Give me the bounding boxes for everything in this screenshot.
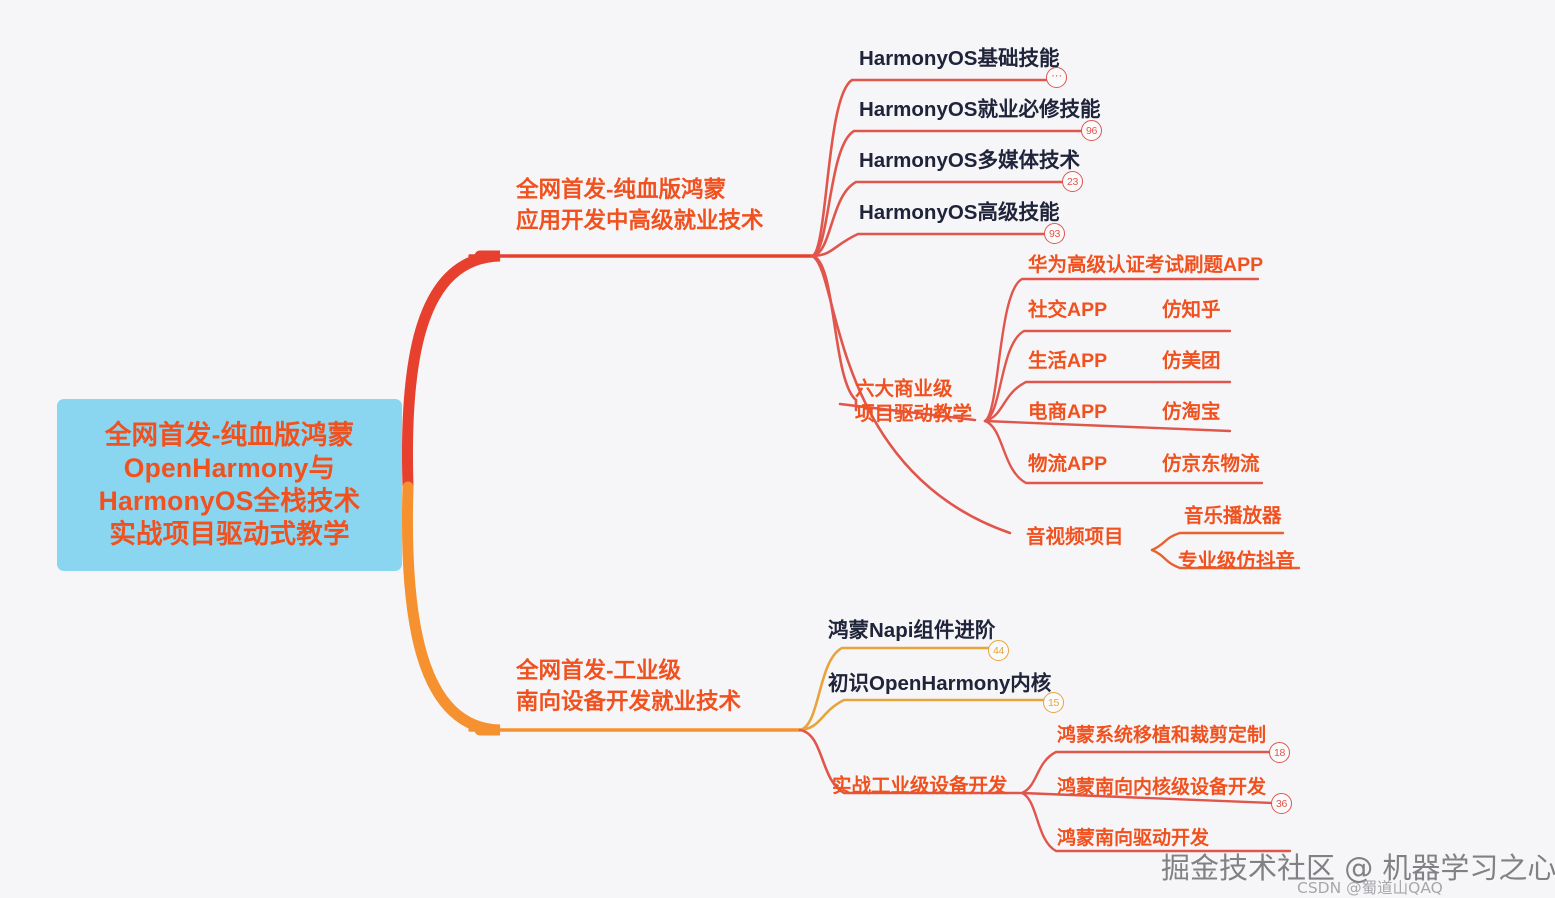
topic-app-ecommerce[interactable]: 电商APP [1028,399,1107,425]
badge-southbound-kernel-device: 36 [1271,793,1292,814]
topic-app-social-clone[interactable]: 仿知乎 [1162,297,1221,323]
topic-harmony-basic[interactable]: HarmonyOS基础技能 [859,46,1059,72]
branch-app-dev-line-1: 全网首发-纯血版鸿蒙 [516,174,764,205]
branch-app-dev-line-2: 应用开发中高级就业技术 [516,205,764,236]
topic-av-douyin-clone[interactable]: 专业级仿抖音 [1178,548,1295,574]
branch-device-dev-line-1: 全网首发-工业级 [516,655,741,686]
root-line-2: OpenHarmony与 [124,452,336,485]
topic-industrial-device-dev[interactable]: 实战工业级设备开发 [832,773,1008,799]
topic-napi-advanced[interactable]: 鸿蒙Napi组件进阶 [828,618,995,644]
topic-harmony-required[interactable]: HarmonyOS就业必修技能 [859,97,1100,123]
branch-label-app-dev[interactable]: 全网首发-纯血版鸿蒙 应用开发中高级就业技术 [516,174,764,236]
trunk-red [407,256,500,487]
topic-app-ecommerce-clone[interactable]: 仿淘宝 [1162,399,1221,425]
topic-app-social[interactable]: 社交APP [1028,297,1107,323]
root-line-3: HarmonyOS全栈技术 [99,485,361,518]
topic-app-huawei-cert[interactable]: 华为高级认证考试刷题APP [1028,252,1263,278]
branch-label-device-dev[interactable]: 全网首发-工业级 南向设备开发就业技术 [516,655,741,717]
wire-kernel [800,700,1050,730]
topic-openharmony-kernel[interactable]: 初识OpenHarmony内核 [828,671,1051,697]
trunk-orange [407,487,500,730]
wire-harmony-advanced [812,234,1047,256]
badge-openharmony-kernel: 15 [1043,692,1064,713]
branch-device-dev-line-2: 南向设备开发就业技术 [516,686,741,717]
topic-system-port-trim[interactable]: 鸿蒙系统移植和裁剪定制 [1057,723,1266,749]
topic-harmony-advanced[interactable]: HarmonyOS高级技能 [859,200,1059,226]
badge-harmony-media: 23 [1062,171,1083,192]
badge-napi-advanced: 44 [988,640,1009,661]
topic-app-logistics[interactable]: 物流APP [1028,451,1107,477]
topic-app-life-clone[interactable]: 仿美团 [1162,348,1221,374]
topic-app-logistics-clone[interactable]: 仿京东物流 [1162,451,1260,477]
topic-southbound-kernel-device[interactable]: 鸿蒙南向内核级设备开发 [1057,775,1266,801]
badge-harmony-advanced: 93 [1044,223,1065,244]
topic-six-projects-line-1: 六大商业级 [855,377,972,402]
root-line-1: 全网首发-纯血版鸿蒙 [105,419,354,452]
watermark-csdn: CSDN @蜀道山QAQ [1297,876,1443,898]
badge-harmony-basic: ··· [1046,67,1067,88]
topic-six-projects[interactable]: 六大商业级 项目驱动教学 [855,377,972,427]
topic-av-projects[interactable]: 音视频项目 [1026,524,1124,550]
mindmap-canvas: 全网首发-纯血版鸿蒙 OpenHarmony与 HarmonyOS全栈技术 实战… [0,0,1555,897]
topic-app-life[interactable]: 生活APP [1028,348,1107,374]
root-line-4: 实战项目驱动式教学 [109,518,349,551]
root-node[interactable]: 全网首发-纯血版鸿蒙 OpenHarmony与 HarmonyOS全栈技术 实战… [57,399,402,571]
wire-six-projects [812,256,856,410]
badge-harmony-required: 96 [1081,120,1102,141]
topic-harmony-media[interactable]: HarmonyOS多媒体技术 [859,148,1080,174]
topic-av-music-player[interactable]: 音乐播放器 [1184,503,1282,529]
topic-six-projects-line-2: 项目驱动教学 [855,402,972,427]
badge-system-port-trim: 18 [1269,742,1290,763]
